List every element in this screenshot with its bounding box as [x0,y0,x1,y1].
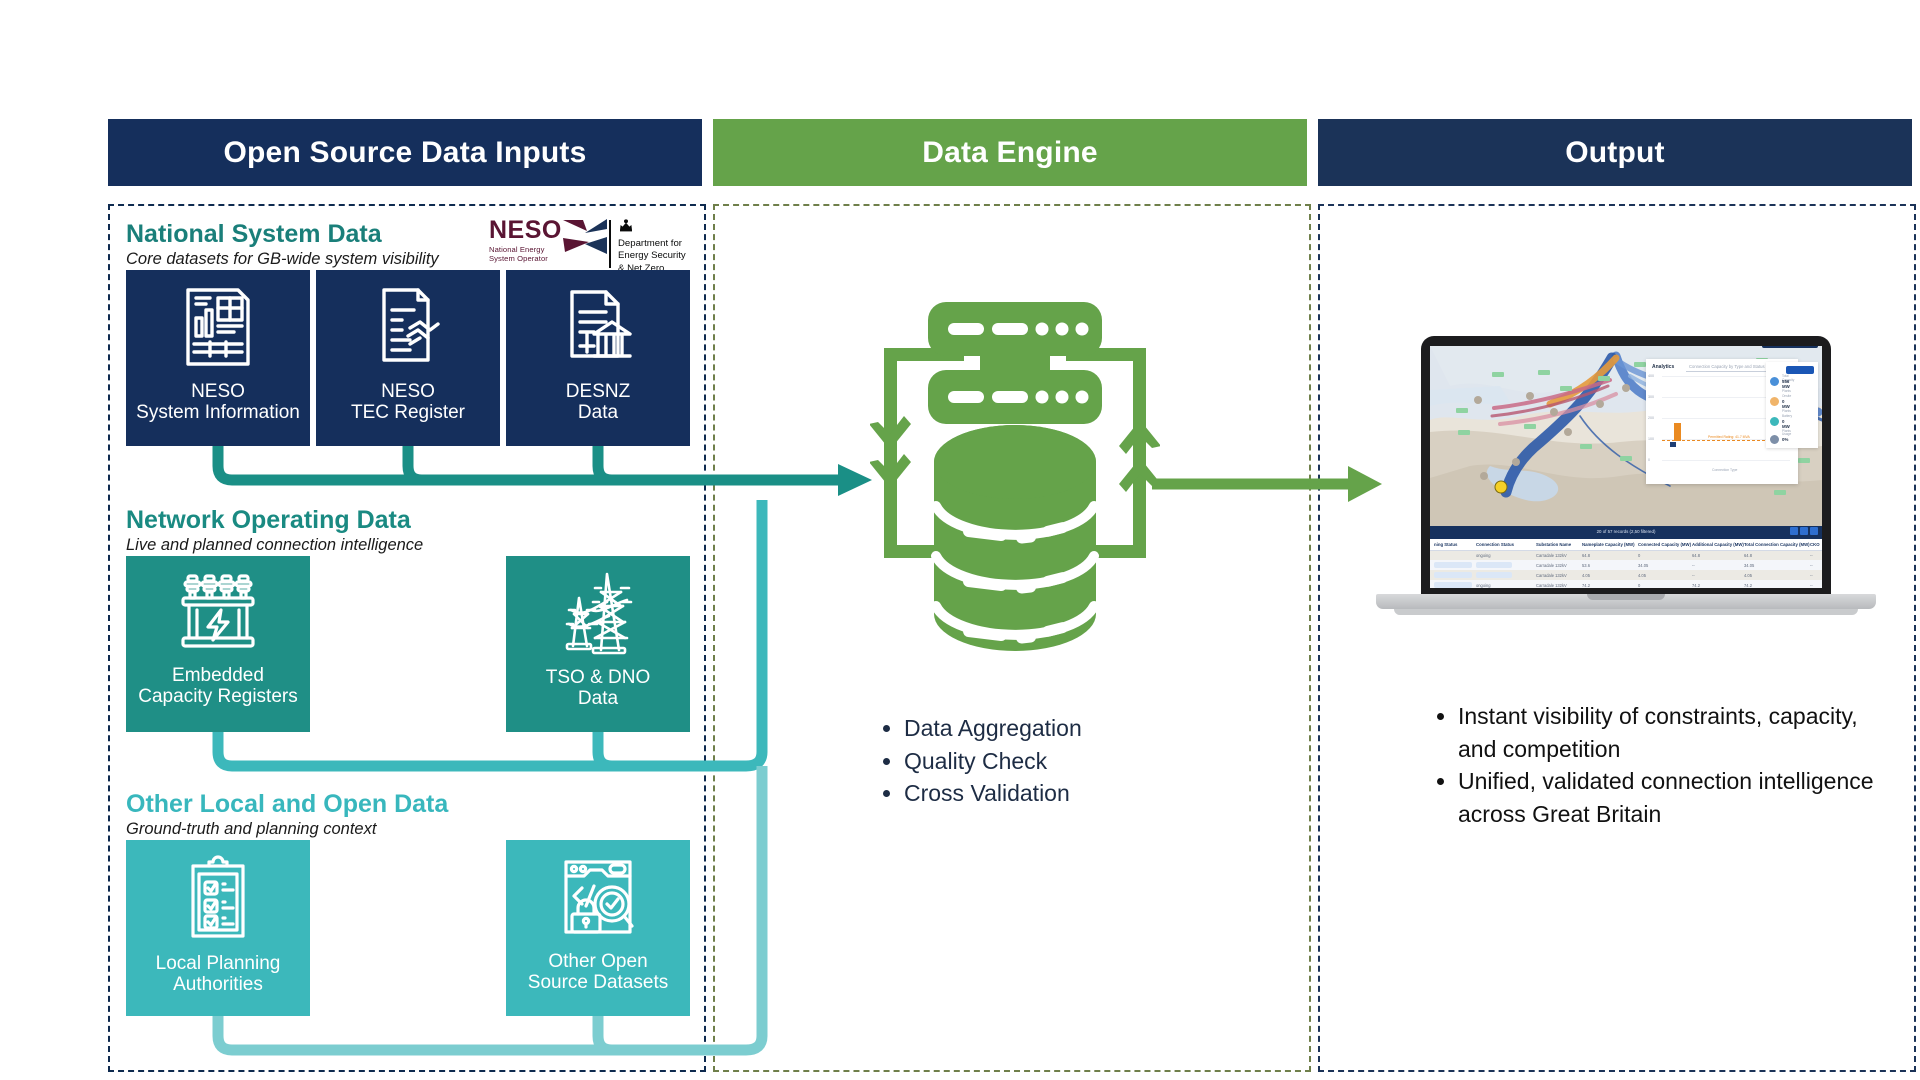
cell-total: 64.8 [1744,553,1752,558]
columns-icon [1800,527,1808,535]
bar-navy-left [1670,442,1676,447]
y-tick: 200 [1648,416,1654,420]
laptop-mockup: Analytics Connection Capacity by Type an… [1376,336,1876,636]
expand-icon [1810,527,1818,535]
open-data-code-unlock-icon [556,854,640,945]
cell-nameplate: 64.8 [1582,553,1590,558]
cell-additional: 64.8 [1692,553,1700,558]
x-axis-label: Connection Type [1712,468,1737,472]
engine-bullet: Data Aggregation [904,712,1284,745]
neso-logo: NESO National Energy System Operator [489,218,609,264]
column-header: Connected Capacity (MW) [1638,542,1691,547]
engine-bullet: Quality Check [904,745,1284,778]
diagram-canvas: Open Source Data Inputs Data Engine Outp… [0,0,1920,1080]
column-header: CKO [1810,542,1820,547]
source-card-desnz-data[interactable]: DESNZ Data [506,270,690,446]
output-bullet: Instant visibility of constraints, capac… [1458,700,1878,765]
column-header: ning Status [1434,542,1457,547]
source-card-label: NESO TEC Register [351,381,465,424]
government-building-document-icon [560,284,636,375]
group-subtitle-national-system-data: Core datasets for GB-wide system visibil… [126,251,439,268]
source-card-other-open-source-datasets[interactable]: Other Open Source Datasets [506,840,690,1016]
desnz-logo: Department for Energy Security & Net Zer… [618,219,710,269]
column-body-output [1318,204,1916,1072]
source-card-label: DESNZ Data [566,381,630,424]
group-title-other-local-open-data: Other Local and Open Data [126,792,448,817]
average-line-label: Permitted Rating: 41.7 MVA [1708,435,1750,439]
column-header: Total Connection Capacity (MW) [1744,542,1810,547]
cell-connected: 0 [1638,553,1640,558]
laptop-base-notch [1587,594,1665,600]
record-count-bar: 20 of 57 records (2,50 filtered) [1430,526,1822,539]
laptop-base-shadow [1394,609,1858,615]
output-bullet-list: Instant visibility of constraints, capac… [1432,700,1878,831]
desnz-line2: Energy Security [618,250,710,262]
cell-substation: Carradale 132kV [1536,563,1567,568]
desnz-line1: Department for [618,238,710,250]
cell-connection: ongoing [1476,553,1491,558]
table-toolbar-icons[interactable] [1790,527,1818,535]
table-row[interactable]: ongoing Carradale 132kV 64.8 0 64.8 64.8… [1430,550,1822,560]
cell-nameplate: 53.6 [1582,563,1590,568]
cell-cko: -- [1810,553,1813,558]
legend-note: 13 Plants [1782,385,1791,393]
column-header-engine: Data Engine [713,119,1307,186]
column-title-engine: Data Engine [922,136,1098,170]
bar-orange-left [1674,423,1681,441]
y-tick: 300 [1648,395,1654,399]
capacity-legend-panel[interactable]: Total Capacity 556 MW 13 Plants Onsite 0… [1766,362,1818,448]
legend-note: 0 Plants [1782,405,1791,413]
royal-crown-icon [618,219,710,237]
output-bullet: Unified, validated connection intelligen… [1458,765,1878,830]
y-tick: 100 [1648,437,1654,441]
table-row[interactable]: ongoing Carradale 132kV 74.2 0 74.2 74.2… [1430,580,1822,588]
cell-nameplate: 74.2 [1582,583,1590,588]
database-server-cycle-icon [870,300,1160,660]
group-title-network-operating-data: Network Operating Data [126,508,411,533]
column-header-inputs: Open Source Data Inputs [108,119,702,186]
laptop-lid: Analytics Connection Capacity by Type an… [1421,336,1831,598]
cell-cko: -- [1810,573,1813,578]
cell-substation: Carradale 132kV [1536,553,1567,558]
source-card-label: NESO System Information [136,381,300,424]
cell-connection: ongoing [1476,583,1491,588]
cell-connected: 34.05 [1638,563,1648,568]
column-header: Connection Status [1476,542,1514,547]
legend-key: Battery [1782,414,1792,418]
table-row[interactable]: Carradale 132kV 4.05 4.05 -- 4.05 -- [1430,570,1822,580]
cell-total: 4.05 [1744,573,1752,578]
cell-connected: 4.05 [1638,573,1646,578]
column-title-inputs: Open Source Data Inputs [224,136,587,170]
y-tick: 0 [1648,458,1650,462]
source-card-neso-system-information[interactable]: NESO System Information [126,270,310,446]
source-card-neso-tec-register[interactable]: NESO TEC Register [316,270,500,446]
cell-total: 74.2 [1744,583,1752,588]
legend-tab-active[interactable] [1786,366,1814,374]
handshake-document-icon [370,284,446,375]
cell-cko: -- [1810,563,1813,568]
cell-substation: Carradale 132kV [1536,573,1567,578]
record-count-label: 20 of 57 records (2,50 filtered) [1597,529,1656,534]
cell-additional: -- [1692,563,1695,568]
legend-key: Onsite [1782,394,1791,398]
substation-transformer-icon [177,570,259,659]
union-jack-flag-icon [561,218,609,258]
dashboard-top-tab[interactable] [1762,346,1818,348]
source-card-tso-dno-data[interactable]: TSO & DNO Data [506,556,690,732]
column-header: Additional Capacity (MW) [1692,542,1744,547]
download-icon [1790,527,1798,535]
dashboard-screen[interactable]: Analytics Connection Capacity by Type an… [1430,346,1822,588]
column-title-output: Output [1565,136,1665,170]
cell-cko: -- [1810,583,1813,588]
table-row[interactable]: Carradale 132kV 53.6 34.05 -- 34.05 -- [1430,560,1822,570]
cell-nameplate: 4.05 [1582,573,1590,578]
cell-total: 34.05 [1744,563,1754,568]
legend-value: 0% [1782,437,1788,442]
cell-substation: Carradale 132kV [1536,583,1567,588]
column-header: Substation Name [1536,542,1571,547]
legend-key: Usage [1782,432,1791,436]
pylon-transmission-tower-icon [557,570,639,661]
source-card-local-planning-authorities[interactable]: Local Planning Authorities [126,840,310,1016]
report-chart-document-icon [180,284,256,375]
column-header-output: Output [1318,119,1912,186]
logo-divider [609,220,611,268]
cell-additional: 74.2 [1692,583,1700,588]
analytics-metric-select[interactable]: Connection Capacity by Type and Status [1686,363,1778,372]
analytics-title: Analytics [1652,364,1674,370]
column-header: Nameplate Capacity (MW) [1582,542,1635,547]
y-tick: 400 [1648,374,1654,378]
group-subtitle-other-local-open-data: Ground-truth and planning context [126,821,376,838]
source-card-label: Local Planning Authorities [156,953,281,996]
group-subtitle-network-operating-data: Live and planned connection intelligence [126,537,423,554]
laptop-camera-notch [1596,339,1656,344]
source-card-label: TSO & DNO Data [546,667,651,710]
clipboard-checklist-icon [179,854,257,947]
source-card-label: Other Open Source Datasets [528,951,668,994]
engine-bullet-list: Data Aggregation Quality Check Cross Val… [878,712,1284,810]
group-title-national-system-data: National System Data [126,222,382,247]
cell-connected: 0 [1638,583,1640,588]
engine-bullet: Cross Validation [904,777,1284,810]
source-card-label: Embedded Capacity Registers [138,665,297,708]
analytics-select-value: Connection Capacity by Type and Status [1689,364,1765,369]
source-card-embedded-capacity-registers[interactable]: Embedded Capacity Registers [126,556,310,732]
cell-additional: -- [1692,573,1695,578]
